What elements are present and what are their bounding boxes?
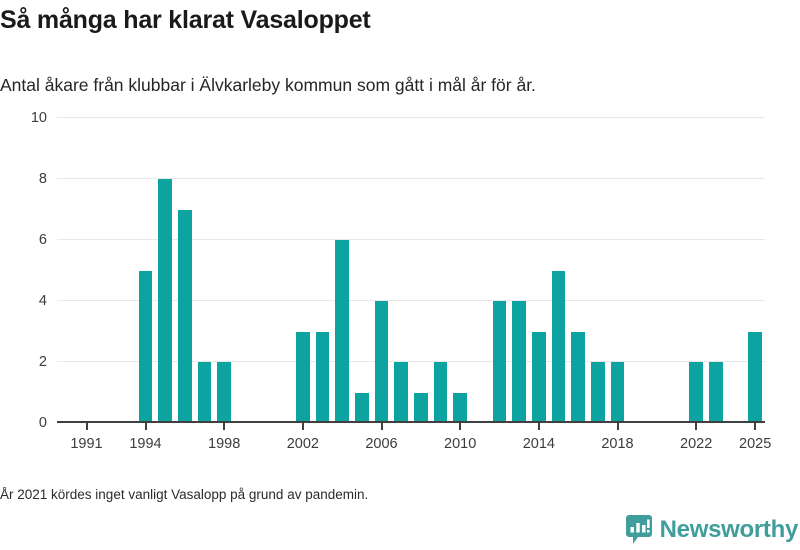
y-axis-tick-label: 10 [31,110,47,126]
x-axis-tick-mark [538,423,540,430]
bar[interactable] [178,210,191,424]
y-axis-tick-label: 0 [39,415,47,431]
x-axis-tick-mark [695,423,697,430]
bar[interactable] [316,332,329,424]
y-axis-tick-label: 4 [39,293,47,309]
bar[interactable] [414,393,427,424]
x-axis-tick-label: 2002 [287,436,319,452]
x-axis-tick-mark [617,423,619,430]
brand-name: Newsworthy [660,516,798,544]
y-axis-tick-label: 6 [39,232,47,248]
bar[interactable] [394,362,407,423]
x-axis-tick-mark [459,423,461,430]
x-axis-tick-mark [754,423,756,430]
bar[interactable] [591,362,604,423]
bar[interactable] [434,362,447,423]
gridline-10 [57,117,765,118]
y-axis-tick-label: 8 [39,171,47,187]
bar[interactable] [355,393,368,424]
x-axis-tick-label: 2006 [365,436,397,452]
bar[interactable] [571,332,584,424]
x-axis-tick-label: 2010 [444,436,476,452]
x-axis-tick-label: 2014 [523,436,555,452]
bar[interactable] [335,240,348,423]
x-axis-tick-mark [302,423,304,430]
plot-area: 0246810 19911994199820022006201020142018… [57,118,765,423]
x-axis-tick-label: 1994 [129,436,161,452]
x-axis-tick-label: 1998 [208,436,240,452]
bar[interactable] [296,332,309,424]
bar-chart-speech-bubble-icon [626,515,652,545]
x-axis-tick-mark [145,423,147,430]
x-axis-tick-mark [86,423,88,430]
bar[interactable] [689,362,702,423]
bar[interactable] [532,332,545,424]
footnote: År 2021 kördes inget vanligt Vasalopp på… [0,487,368,502]
bar[interactable] [611,362,624,423]
x-axis-tick-label: 1991 [70,436,102,452]
page-title: Så många har klarat Vasaloppet [0,6,371,35]
x-axis-tick-label: 2018 [601,436,633,452]
x-axis-line [57,421,765,424]
y-axis-tick-label: 2 [39,354,47,370]
bar[interactable] [198,362,211,423]
chart-subtitle: Antal åkare från klubbar i Älvkarleby ko… [0,75,536,96]
x-axis-tick-mark [223,423,225,430]
chart-page: Så många har klarat Vasaloppet Antal åka… [0,0,800,550]
bar[interactable] [748,332,761,424]
x-axis-tick-mark [381,423,383,430]
bar[interactable] [158,179,171,423]
bar[interactable] [512,301,525,423]
bar[interactable] [552,271,565,424]
bar[interactable] [375,301,388,423]
newsworthy-logo: Newsworthy [626,515,798,545]
bar[interactable] [139,271,152,424]
bar[interactable] [709,362,722,423]
x-axis-tick-label: 2025 [739,436,771,452]
bar[interactable] [217,362,230,423]
bar[interactable] [493,301,506,423]
x-axis-tick-label: 2022 [680,436,712,452]
bar[interactable] [453,393,466,424]
